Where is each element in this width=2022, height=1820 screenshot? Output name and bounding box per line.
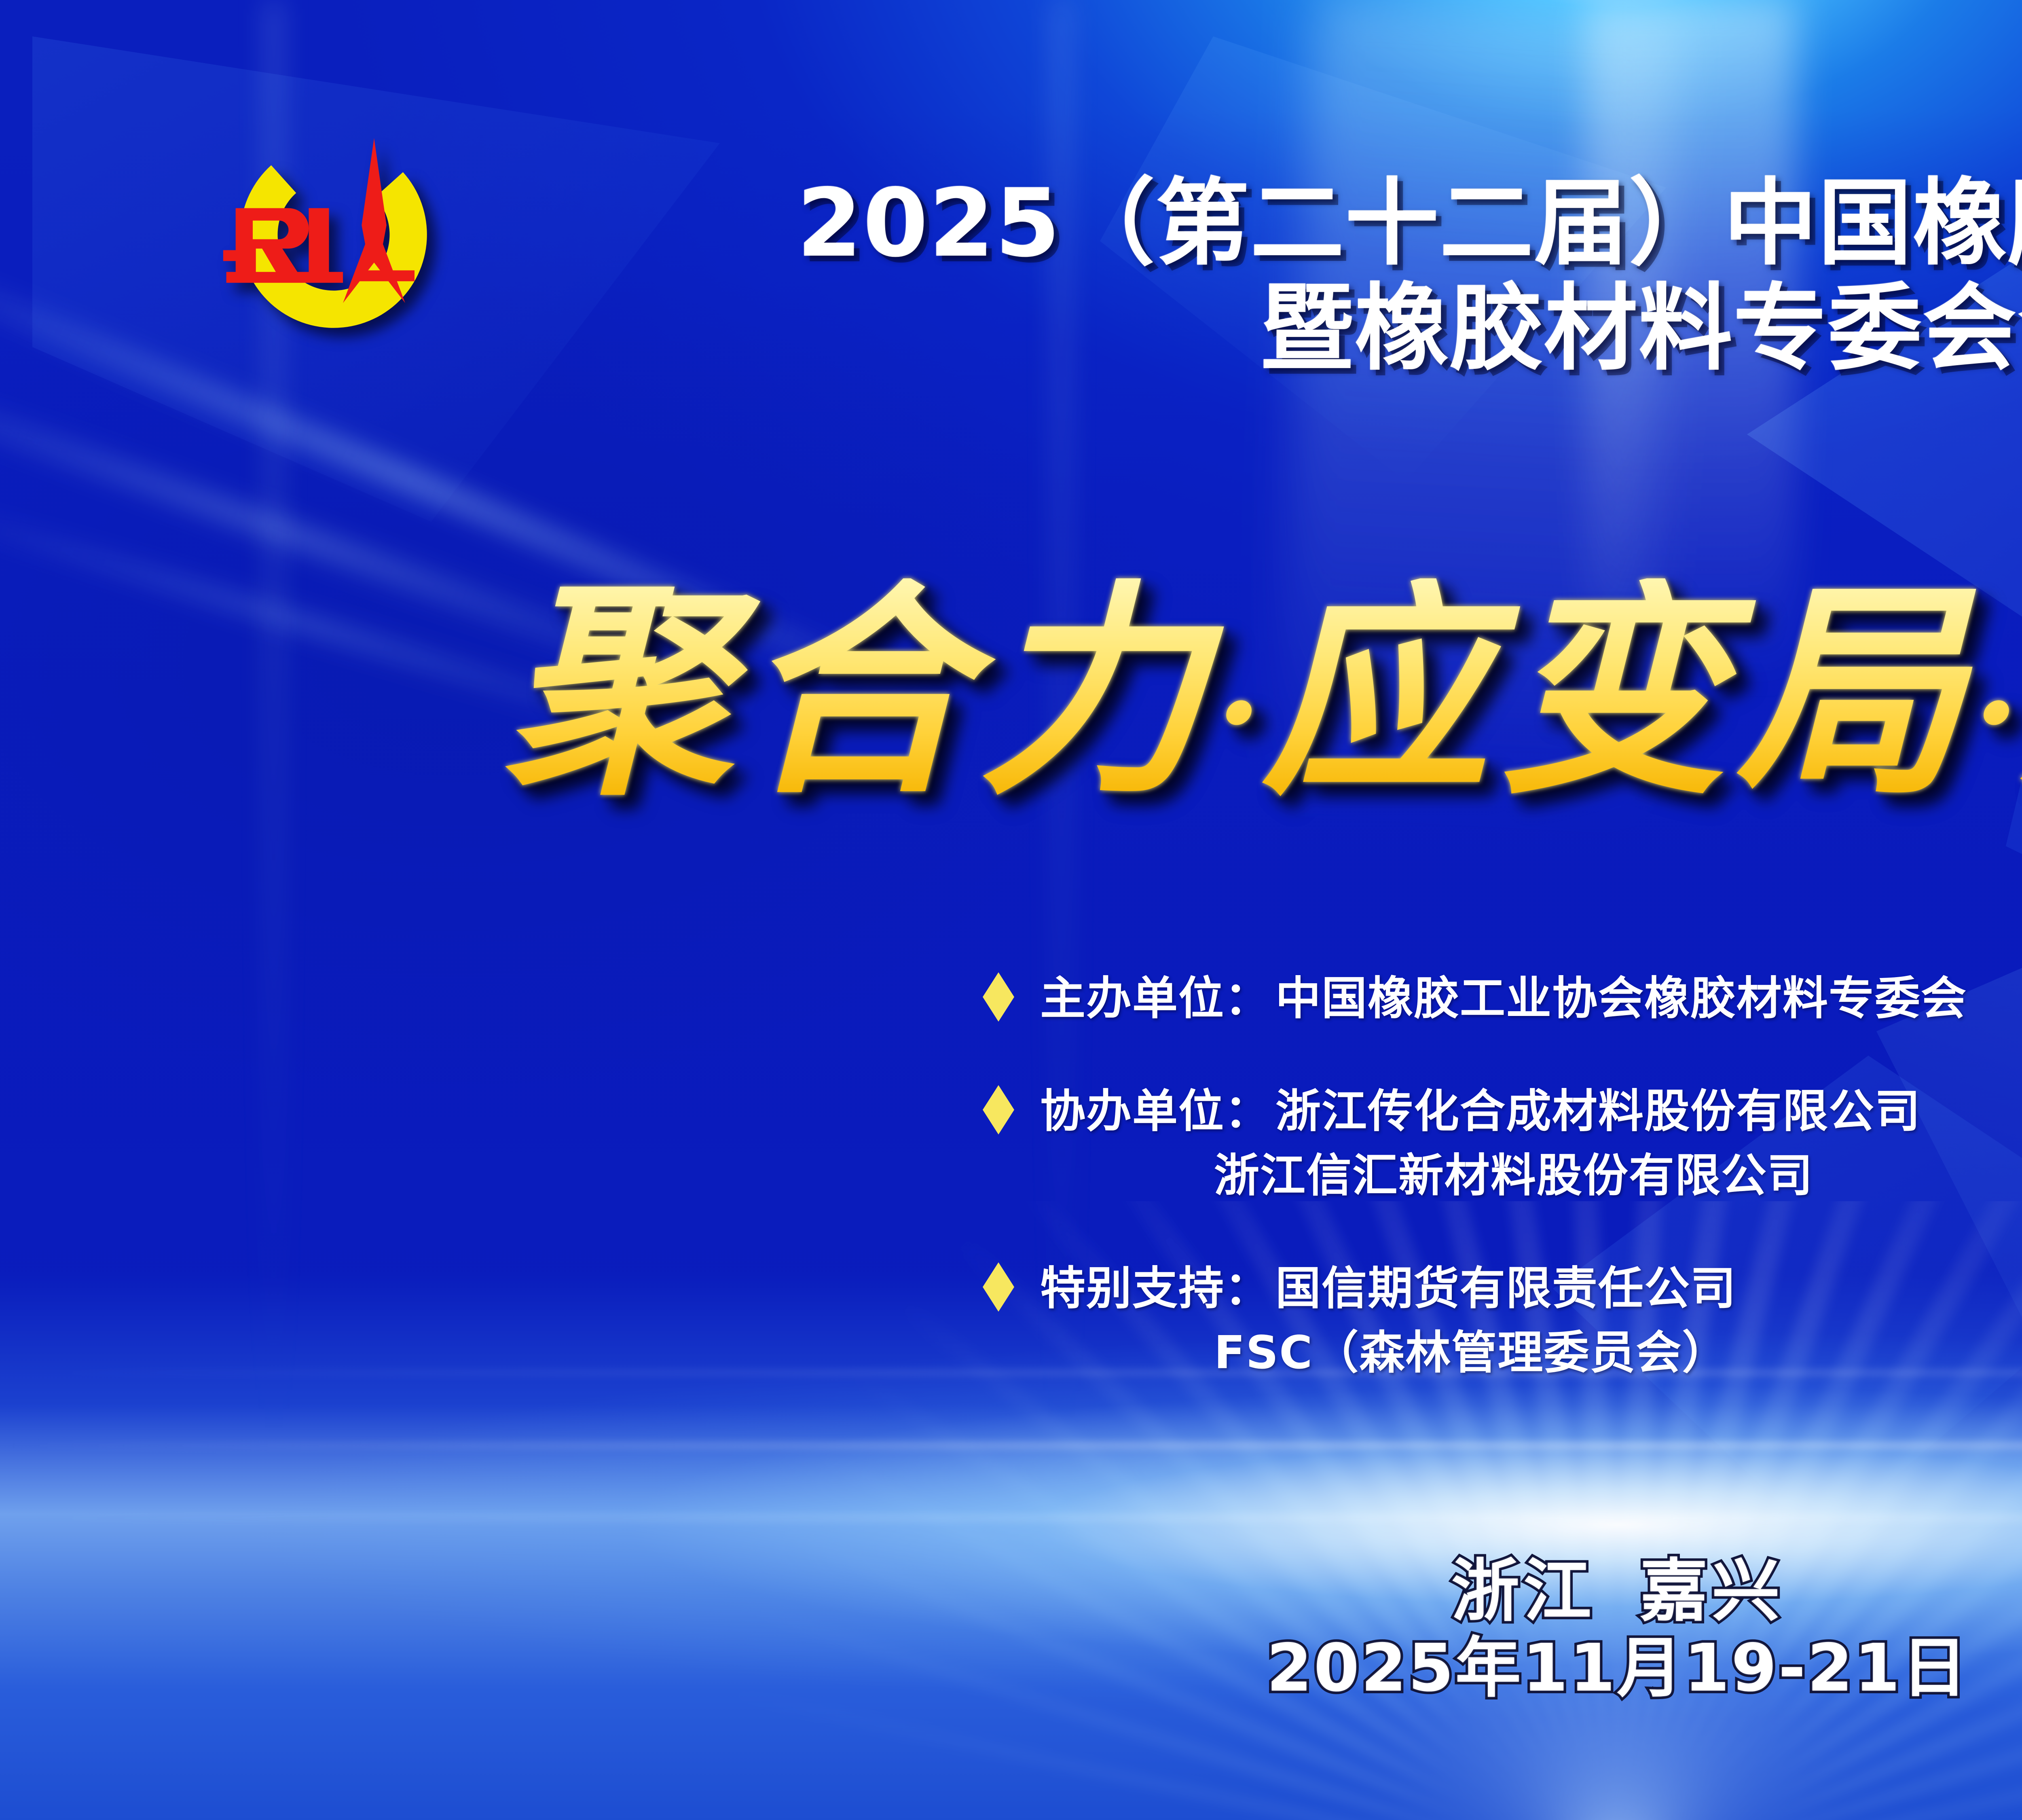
title-line-1: 2025（第二十二届）中国橡胶材料市场发展论坛 xyxy=(514,174,2022,273)
credit-value: FSC（森林管理委员会） xyxy=(1040,1321,2022,1385)
credit-label: 协办单位： xyxy=(1040,1085,1271,1138)
diamond-bullet-icon xyxy=(983,1085,1014,1134)
credit-value: 浙江信汇新材料股份有限公司 xyxy=(1040,1144,2022,1208)
logo-letters-icon xyxy=(223,138,415,303)
slogan-part-1: 聚合力 xyxy=(505,559,1216,825)
conference-banner: 2025（第二十二届）中国橡胶材料市场发展论坛 暨橡胶材料专委会会员大会 聚合力… xyxy=(0,0,2022,1820)
credit-line: 协办单位：浙江传化合成材料股份有限公司 xyxy=(1040,1079,2022,1144)
venue-and-date: 浙江嘉兴 2025年11月19-21日 xyxy=(0,1553,2022,1708)
credit-row-co-organizer: 协办单位：浙江传化合成材料股份有限公司 浙江信汇新材料股份有限公司 xyxy=(983,1079,2022,1208)
credit-row-special-support: 特别支持：国信期货有限责任公司 FSC（森林管理委员会） xyxy=(983,1257,2022,1385)
slogan-part-3: 启新程 xyxy=(2020,559,2022,825)
slogan-separator: · xyxy=(1216,634,1262,791)
venue-city: 嘉兴 xyxy=(1640,1551,1784,1631)
slogan-separator: · xyxy=(1973,634,2020,791)
credit-value: 浙江传化合成材料股份有限公司 xyxy=(1275,1085,1921,1138)
venue-location: 浙江嘉兴 xyxy=(0,1553,2022,1629)
title-line-2: 暨橡胶材料专委会会员大会 xyxy=(514,273,2022,384)
credit-label: 主办单位： xyxy=(1040,972,1271,1025)
conference-title: 2025（第二十二届）中国橡胶材料市场发展论坛 暨橡胶材料专委会会员大会 xyxy=(514,174,2022,384)
credit-label: 特别支持： xyxy=(1040,1262,1271,1315)
credit-value: 中国橡胶工业协会橡胶材料专委会 xyxy=(1275,972,1967,1025)
slogan-part-2: 应变局 xyxy=(1262,559,1973,825)
cria-logo xyxy=(174,133,493,336)
credits-block: 主办单位：中国橡胶工业协会橡胶材料专委会 协办单位：浙江传化合成材料股份有限公司… xyxy=(983,967,2022,1408)
credit-value: 国信期货有限责任公司 xyxy=(1275,1262,1736,1315)
credit-row-organizer: 主办单位：中国橡胶工业协会橡胶材料专委会 xyxy=(983,967,2022,1031)
credit-line: 特别支持：国信期货有限责任公司 xyxy=(1040,1257,2022,1321)
diamond-bullet-icon xyxy=(983,1262,1014,1312)
conference-slogan: 聚合力·应变局·启新程 xyxy=(0,578,2022,805)
credit-line: 主办单位：中国橡胶工业协会橡胶材料专委会 xyxy=(1040,967,2022,1031)
venue-province: 浙江 xyxy=(1451,1551,1595,1631)
event-date: 2025年11月19-21日 xyxy=(0,1629,2022,1708)
diamond-bullet-icon xyxy=(983,972,1014,1022)
